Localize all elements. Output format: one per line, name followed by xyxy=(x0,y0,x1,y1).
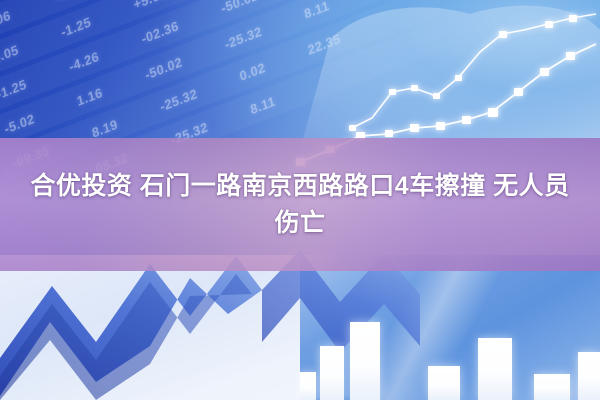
headline-block: 合优投资 石门一路南京西路路口4车擦撞 无人员 伤亡 xyxy=(0,138,600,271)
bar-7 xyxy=(578,352,600,400)
cloud-shape xyxy=(300,6,600,150)
headline-line-1: 合优投资 石门一路南京西路路口4车擦撞 无人员 xyxy=(30,170,569,203)
bar-3 xyxy=(350,322,380,400)
bar-5 xyxy=(478,338,512,400)
bar-1 xyxy=(300,372,316,400)
headline-line-2: 伤亡 xyxy=(274,207,325,240)
news-thumbnail-image: -09.35-11.25+5.0245.02-2.06-09.35-11.25-… xyxy=(0,0,600,400)
bar-4 xyxy=(428,366,460,400)
bar-2 xyxy=(320,346,344,400)
bar-6 xyxy=(534,374,570,400)
